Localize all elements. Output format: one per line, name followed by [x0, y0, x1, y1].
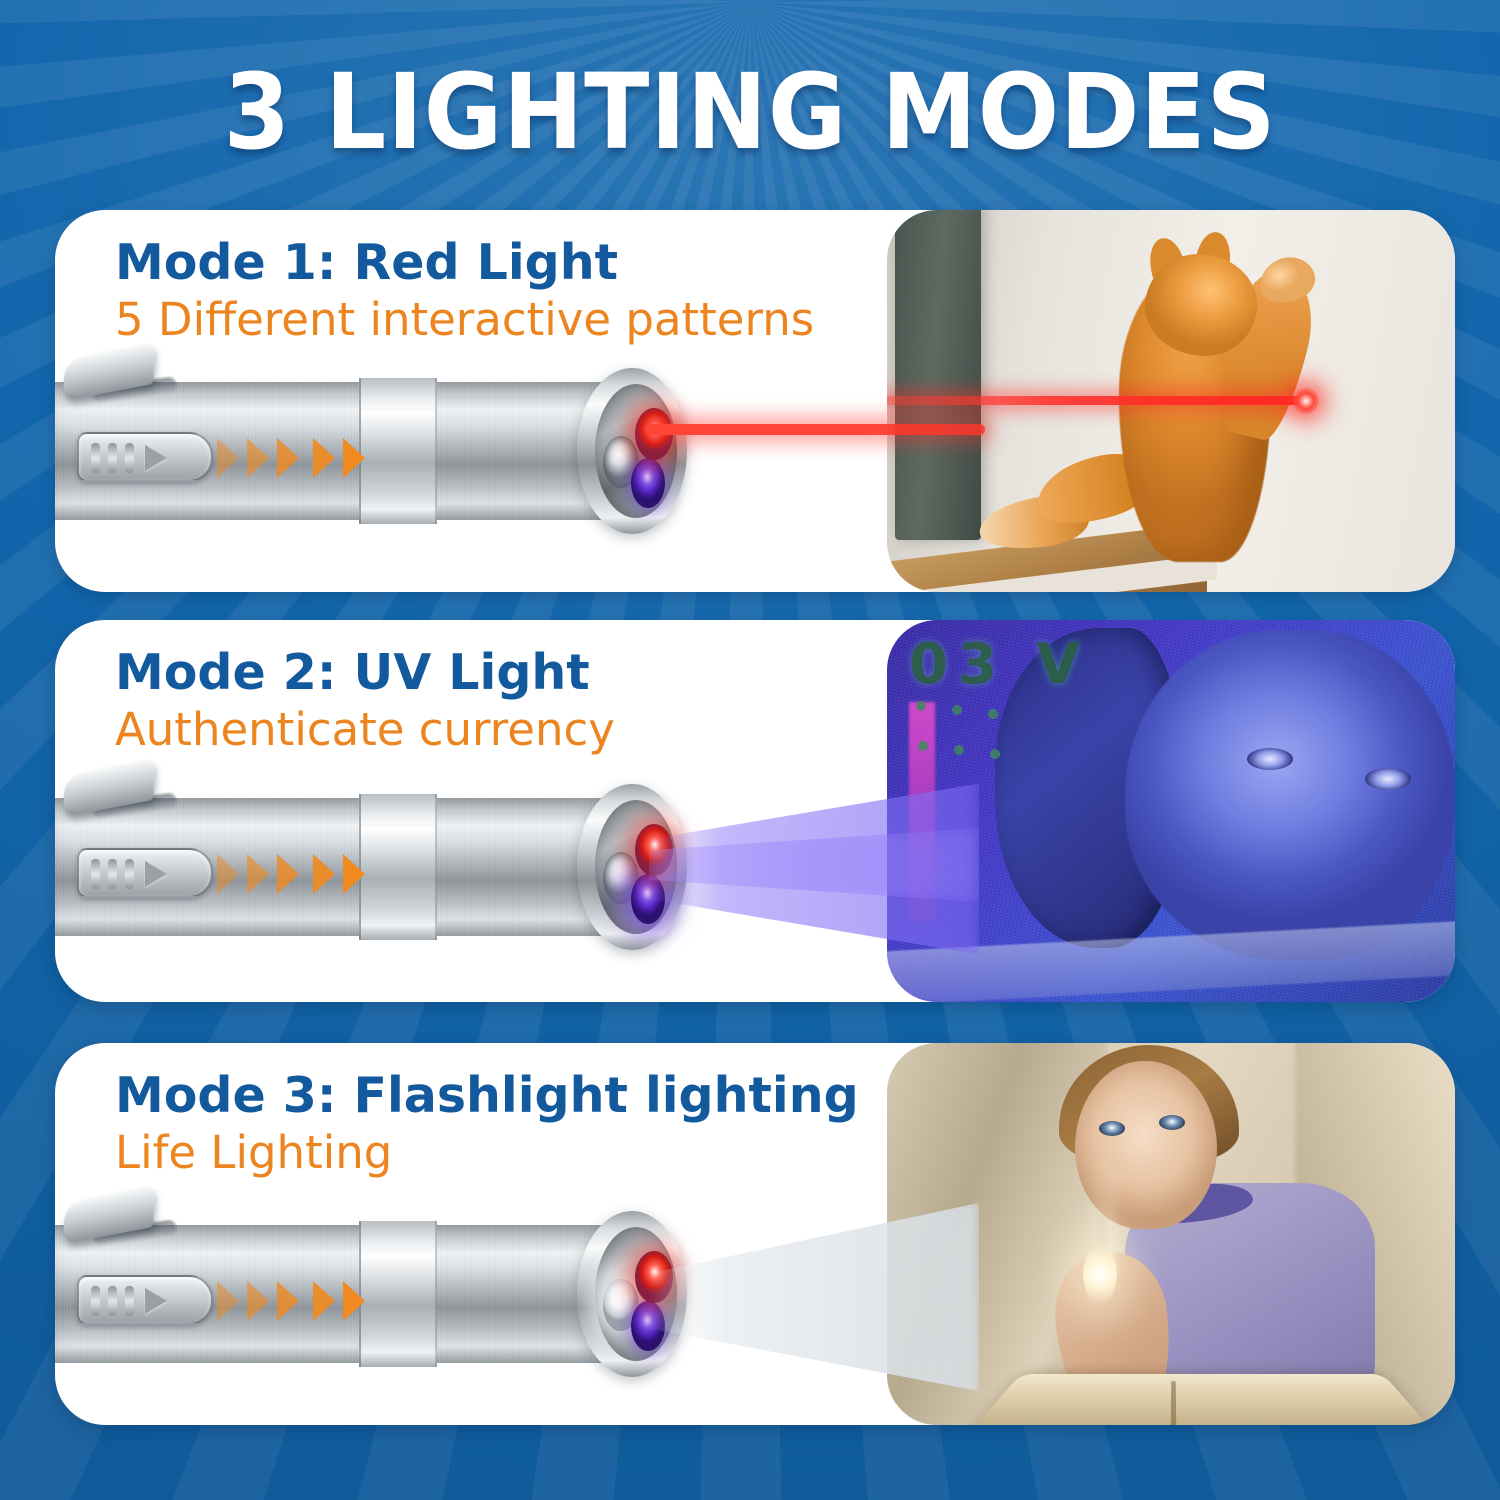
mode-card-1: Mode 1: Red Light 5 Different interactiv…	[55, 210, 1455, 592]
play-triangle-icon	[145, 445, 167, 471]
handheld-flashlight-glow	[1083, 1243, 1117, 1305]
switch-ridge	[108, 859, 117, 889]
device-head-inner	[595, 384, 677, 518]
mode-3-title: Mode 3: Flashlight lighting	[115, 1069, 859, 1124]
franklin-eye-left	[1247, 748, 1293, 770]
laser-dot	[1293, 388, 1319, 414]
banknote-serial-text: 03 V	[909, 632, 1090, 697]
play-triangle-icon	[145, 1288, 167, 1314]
red-laser-beam	[645, 424, 985, 435]
chevron-right-icon	[247, 438, 269, 478]
mode-card-2: 03 V Mode 2: UV Light Authenticate curre…	[55, 620, 1455, 1002]
switch-ridge	[108, 443, 117, 473]
device-head	[577, 368, 687, 534]
chevron-right-icon	[247, 854, 269, 894]
chevron-right-icon	[343, 438, 365, 478]
slide-power-switch[interactable]	[77, 848, 213, 898]
girl-eye-left	[1099, 1121, 1125, 1136]
franklin-eye-right	[1365, 768, 1411, 790]
uv-led-lens	[631, 458, 665, 508]
chevron-right-icon	[217, 854, 239, 894]
chevron-right-icon	[343, 854, 365, 894]
mode-1-text-block: Mode 1: Red Light 5 Different interactiv…	[115, 236, 814, 346]
switch-ridge	[125, 443, 134, 473]
open-book	[966, 1374, 1438, 1425]
chevron-right-icon	[277, 854, 299, 894]
switch-ridge	[108, 1286, 117, 1316]
chevron-right-icon	[313, 854, 335, 894]
switch-ridge	[91, 1286, 100, 1316]
franklin-face	[1125, 630, 1455, 960]
uv-microprint-dots	[911, 698, 1015, 784]
mode-3-text-block: Mode 3: Flashlight lighting Life Lightin…	[115, 1069, 859, 1179]
mode-1-title: Mode 1: Red Light	[115, 236, 814, 291]
flashlight-device-2	[55, 766, 709, 966]
chevron-right-icon	[217, 438, 239, 478]
mode-1-photo	[887, 210, 1455, 592]
mode-2-text-block: Mode 2: UV Light Authenticate currency	[115, 646, 615, 756]
chevron-right-icon	[277, 438, 299, 478]
curtain	[895, 210, 981, 540]
white-flashlight-beam	[649, 1199, 979, 1395]
cat-head	[1145, 254, 1257, 356]
mode-3-subtitle: Life Lighting	[115, 1126, 859, 1179]
mode-2-title: Mode 2: UV Light	[115, 646, 615, 701]
slide-power-switch[interactable]	[77, 432, 213, 482]
page-title: 3 LIGHTING MODES	[60, 60, 1440, 164]
switch-ridge	[125, 859, 134, 889]
slide-direction-arrows	[217, 1273, 427, 1329]
slide-power-switch[interactable]	[77, 1275, 213, 1325]
switch-ridge	[125, 1286, 134, 1316]
mode-2-subtitle: Authenticate currency	[115, 703, 615, 756]
switch-ridge	[91, 443, 100, 473]
chevron-right-icon	[247, 1281, 269, 1321]
chevron-right-icon	[313, 1281, 335, 1321]
mode-1-subtitle: 5 Different interactive patterns	[115, 293, 814, 346]
flashlight-device-3	[55, 1193, 709, 1393]
chevron-right-icon	[313, 438, 335, 478]
laser-beam-in-photo	[887, 396, 1311, 405]
flashlight-device-1	[55, 350, 709, 550]
play-triangle-icon	[145, 861, 167, 887]
chevron-right-icon	[343, 1281, 365, 1321]
slide-direction-arrows	[217, 430, 427, 486]
girl-eye-right	[1159, 1115, 1185, 1130]
chevron-right-icon	[277, 1281, 299, 1321]
infographic-stage: 3 LIGHTING MODES Mode 1: Red Light 5 Dif…	[0, 0, 1500, 1500]
mode-card-3: Mode 3: Flashlight lighting Life Lightin…	[55, 1043, 1455, 1425]
slide-direction-arrows	[217, 846, 427, 902]
book-spine	[1171, 1381, 1177, 1425]
switch-ridge	[91, 859, 100, 889]
chevron-right-icon	[217, 1281, 239, 1321]
